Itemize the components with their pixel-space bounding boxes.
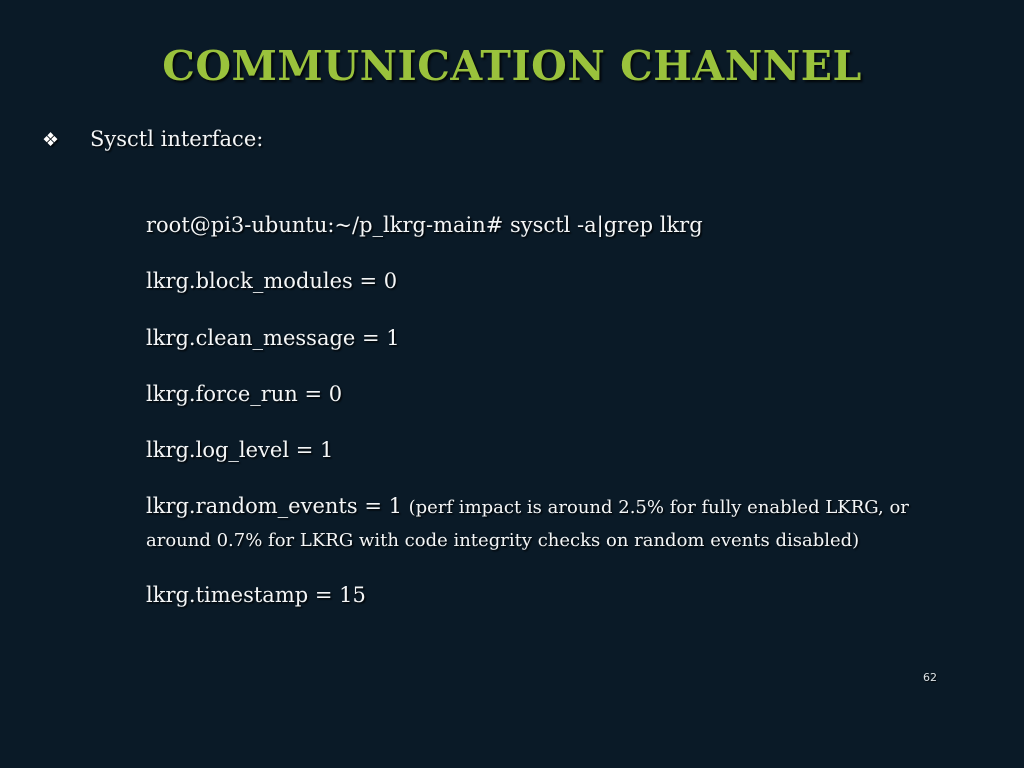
sysctl-param-random-events-value: lkrg.random_events = 1 (146, 494, 409, 518)
sysctl-param-force-run: lkrg.force_run = 0 (146, 378, 936, 411)
slide-canvas: COMMUNICATION CHANNEL ❖ Sysctl interface… (0, 0, 1024, 768)
sysctl-param-random-events: lkrg.random_events = 1 (perf impact is a… (146, 490, 918, 556)
sysctl-param-log-level: lkrg.log_level = 1 (146, 434, 936, 467)
page-title: COMMUNICATION CHANNEL (62, 44, 962, 89)
sysctl-param-clean-message: lkrg.clean_message = 1 (146, 322, 936, 355)
sysctl-param-block-modules: lkrg.block_modules = 0 (146, 265, 936, 298)
bullet-item-sysctl-interface: ❖ Sysctl interface: (42, 126, 263, 153)
bullet-item-label: Sysctl interface: (90, 126, 263, 152)
sysctl-param-timestamp: lkrg.timestamp = 15 (146, 579, 936, 612)
four-diamond-bullet-icon: ❖ (42, 129, 90, 153)
page-number: 62 (918, 671, 942, 684)
sysctl-command-line: root@pi3-ubuntu:~/p_lkrg-main# sysctl -a… (146, 209, 936, 242)
sysctl-output-block: root@pi3-ubuntu:~/p_lkrg-main# sysctl -a… (146, 209, 936, 636)
